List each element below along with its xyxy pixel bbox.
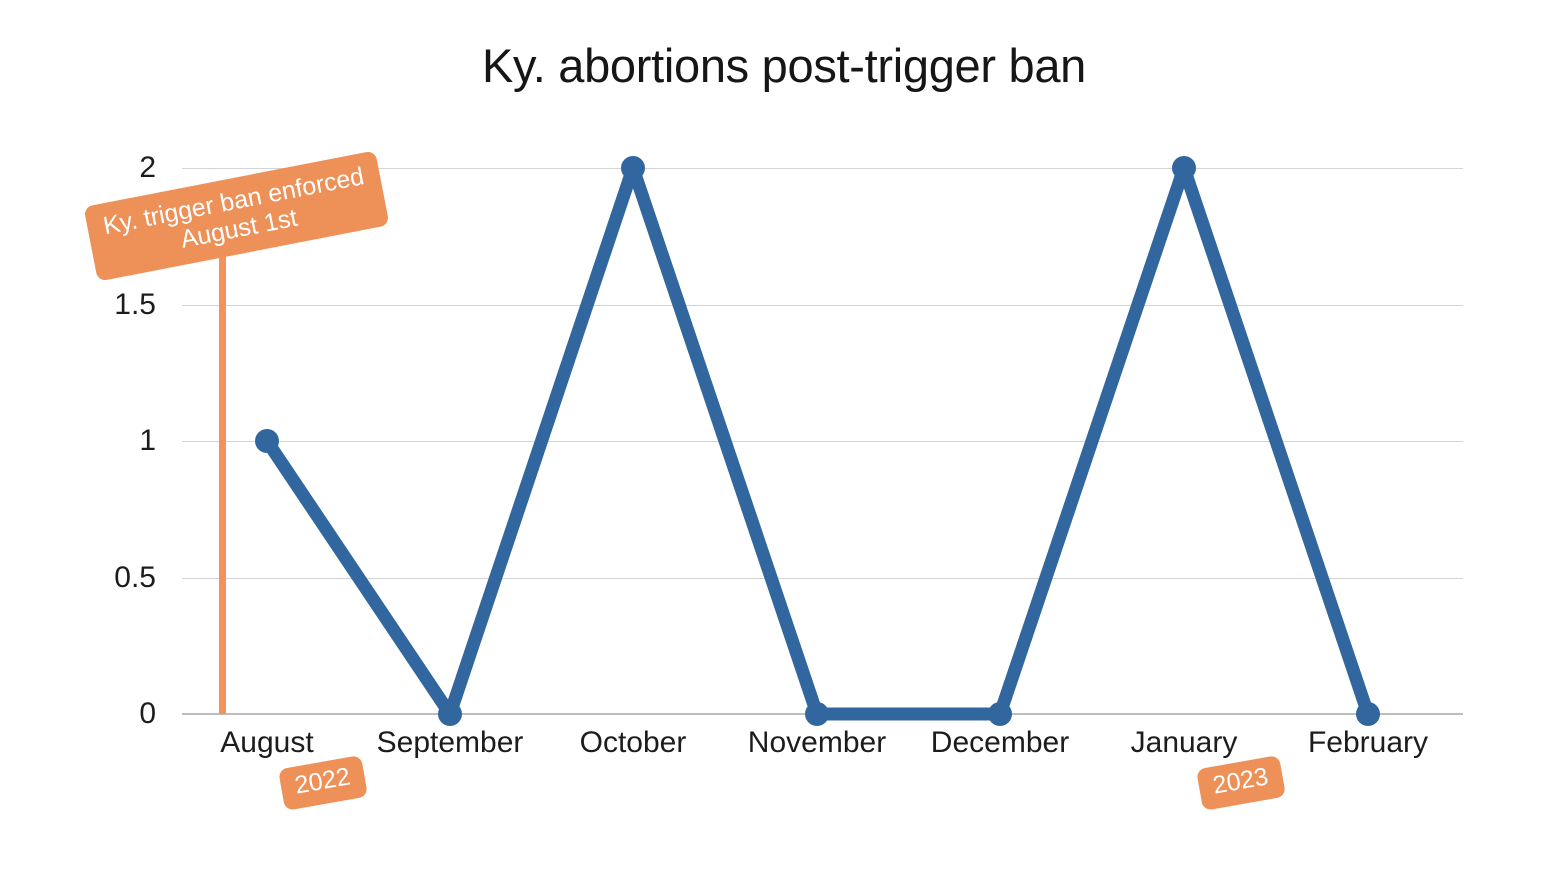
chart-title: Ky. abortions post-trigger ban <box>0 38 1568 93</box>
y-axis-tick-0: 0 <box>36 697 156 731</box>
x-axis-tick-september: September <box>377 726 524 760</box>
x-axis-tick-december: December <box>931 726 1069 760</box>
axis-baseline <box>182 713 1463 715</box>
x-axis-tick-august: August <box>220 726 313 760</box>
gridline-1-5 <box>182 305 1463 306</box>
year-badge-2022: 2022 <box>278 755 368 810</box>
x-axis-tick-october: October <box>580 726 687 760</box>
gridline-1 <box>182 441 1463 442</box>
chart-container: Ky. abortions post-trigger ban 2 1.5 1 0… <box>0 0 1568 882</box>
y-axis-tick-1-5: 1.5 <box>36 288 156 322</box>
plot-area <box>182 168 1463 714</box>
year-badge-2023: 2023 <box>1196 755 1286 810</box>
y-axis-tick-1: 1 <box>36 424 156 458</box>
y-axis-tick-2: 2 <box>36 151 156 185</box>
x-axis-tick-january: January <box>1131 726 1238 760</box>
trigger-ban-event-line <box>219 250 226 714</box>
gridline-0-5 <box>182 578 1463 579</box>
year-badge-2022-label: 2022 <box>293 762 353 799</box>
x-axis-tick-november: November <box>748 726 886 760</box>
y-axis-tick-0-5: 0.5 <box>36 561 156 595</box>
x-axis-tick-february: February <box>1308 726 1428 760</box>
year-badge-2023-label: 2023 <box>1211 762 1271 799</box>
